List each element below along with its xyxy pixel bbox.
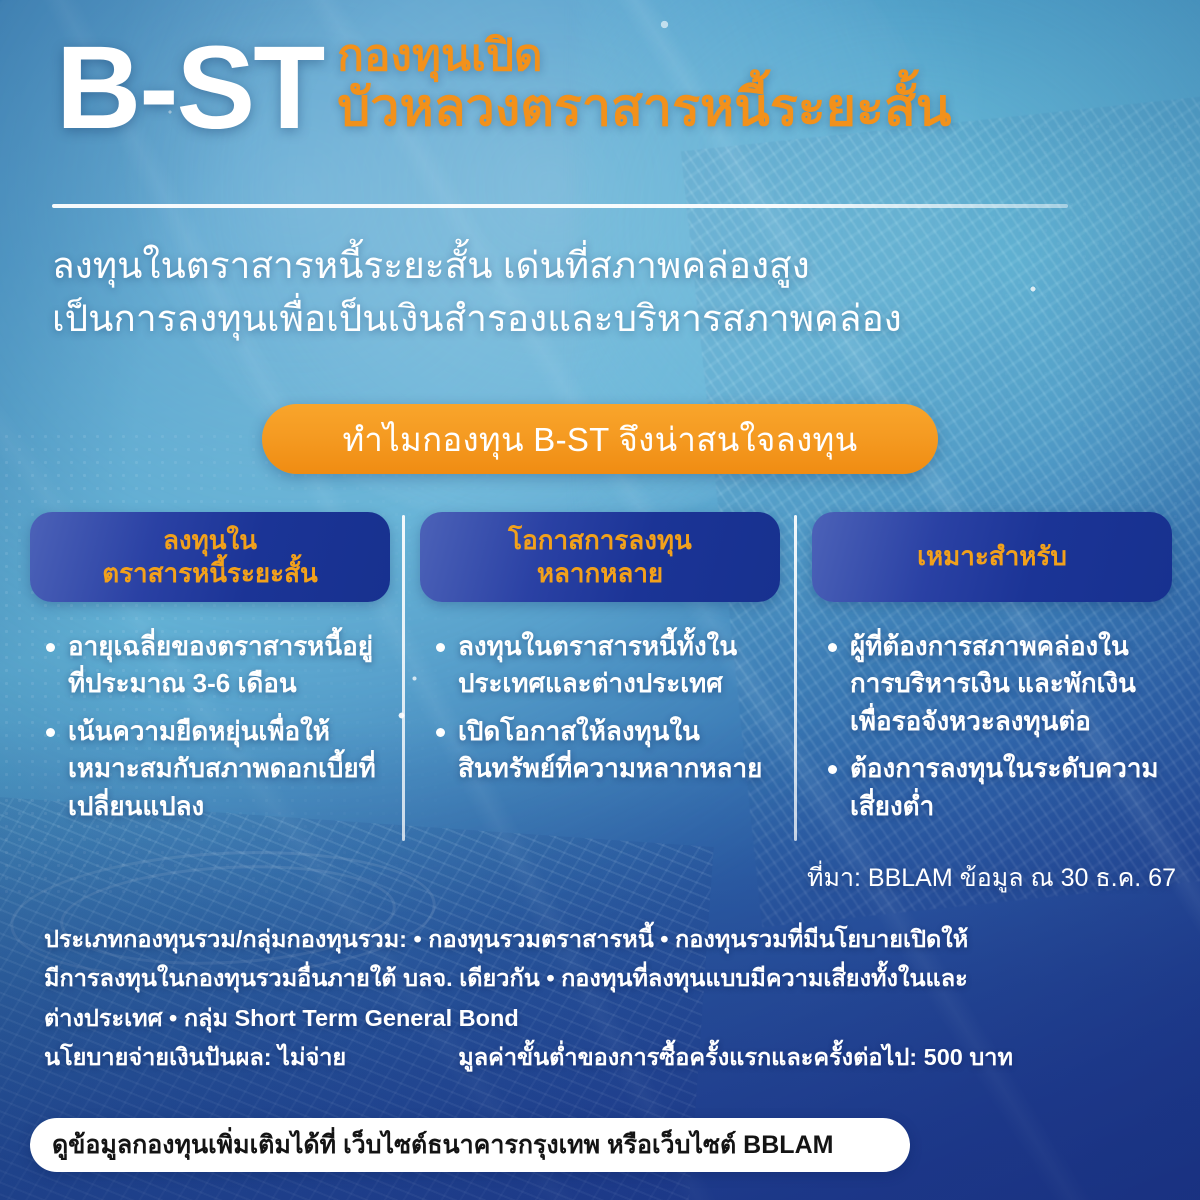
feature-column-2: โอกาสการลงทุนหลากหลาย ลงทุนในตราสารหนี้ท… xyxy=(420,512,780,804)
dividend-policy: นโยบายจ่ายเงินปันผล: ไม่จ่าย xyxy=(44,1038,346,1077)
column-divider-1 xyxy=(402,515,405,841)
fund-name-line1: กองทุนเปิด xyxy=(337,34,951,78)
disclaimer-line3: ต่างประเทศ • กลุ่ม Short Term General Bo… xyxy=(44,999,1174,1038)
title-row: B-ST กองทุนเปิด บัวหลวงตราสารหนี้ระยะสั้… xyxy=(0,28,1200,143)
feature-column-2-bullets: ลงทุนในตราสารหนี้ทั้งในประเทศและต่างประเ… xyxy=(420,628,780,788)
source-note: ที่มา: BBLAM ข้อมูล ณ 30 ธ.ค. 67 xyxy=(807,858,1176,898)
header: B-ST กองทุนเปิด บัวหลวงตราสารหนี้ระยะสั้… xyxy=(0,28,1200,143)
bullet-item: ต้องการลงทุนในระดับความเสี่ยงต่ำ xyxy=(824,750,1166,825)
bullet-item: เน้นความยืดหยุ่นเพื่อให้เหมาะสมกับสภาพดอ… xyxy=(42,713,384,825)
feature-column-3-bullets: ผู้ที่ต้องการสภาพคล่องในการบริหารเงิน แล… xyxy=(812,628,1172,825)
disclaimer-terms-row: นโยบายจ่ายเงินปันผล: ไม่จ่าย มูลค่าขั้นต… xyxy=(44,1038,1174,1077)
fund-name: กองทุนเปิด บัวหลวงตราสารหนี้ระยะสั้น xyxy=(337,34,951,134)
feature-column-3: เหมาะสำหรับ ผู้ที่ต้องการสภาพคล่องในการบ… xyxy=(812,512,1172,841)
content-layer: B-ST กองทุนเปิด บัวหลวงตราสารหนี้ระยะสั้… xyxy=(0,0,1200,1200)
column-divider-2 xyxy=(794,515,797,841)
subtitle-line2: เป็นการลงทุนเพื่อเป็นเงินสำรองและบริหารส… xyxy=(52,293,1142,346)
feature-column-3-title: เหมาะสำหรับ xyxy=(812,512,1172,602)
feature-column-1: ลงทุนในตราสารหนี้ระยะสั้น อายุเฉลี่ยของต… xyxy=(30,512,390,841)
fund-ticker: B-ST xyxy=(56,34,323,143)
cta-pill-button[interactable]: ทำไมกองทุน B-ST จึงน่าสนใจลงทุน xyxy=(262,404,938,474)
bullet-item: ผู้ที่ต้องการสภาพคล่องในการบริหารเงิน แล… xyxy=(824,628,1166,740)
subtitle-line1: ลงทุนในตราสารหนี้ระยะสั้น เด่นที่สภาพคล่… xyxy=(52,240,1142,293)
disclaimer: ประเภทกองทุนรวม/กลุ่มกองทุนรวม: • กองทุน… xyxy=(44,920,1174,1078)
minimum-purchase: มูลค่าขั้นต่ำของการซื้อครั้งแรกและครั้งต… xyxy=(458,1038,1013,1077)
feature-column-1-title: ลงทุนในตราสารหนี้ระยะสั้น xyxy=(30,512,390,602)
bullet-item: ลงทุนในตราสารหนี้ทั้งในประเทศและต่างประเ… xyxy=(432,628,774,703)
bullet-item: เปิดโอกาสให้ลงทุนในสินทรัพย์ที่ความหลากห… xyxy=(432,713,774,788)
header-divider-rule xyxy=(52,204,1068,208)
feature-column-2-title: โอกาสการลงทุนหลากหลาย xyxy=(420,512,780,602)
disclaimer-line1: ประเภทกองทุนรวม/กลุ่มกองทุนรวม: • กองทุน… xyxy=(44,920,1174,959)
disclaimer-line2: มีการลงทุนในกองทุนรวมอื่นภายใต้ บลจ. เดี… xyxy=(44,959,1174,998)
subtitle: ลงทุนในตราสารหนี้ระยะสั้น เด่นที่สภาพคล่… xyxy=(52,240,1142,345)
poster: B-ST กองทุนเปิด บัวหลวงตราสารหนี้ระยะสั้… xyxy=(0,0,1200,1200)
footer-link-bar[interactable]: ดูข้อมูลกองทุนเพิ่มเติมได้ที่ เว็บไซต์ธน… xyxy=(30,1118,910,1172)
feature-column-1-bullets: อายุเฉลี่ยของตราสารหนี้อยู่ที่ประมาณ 3-6… xyxy=(30,628,390,825)
terms-spacer xyxy=(346,1038,458,1077)
fund-name-line2: บัวหลวงตราสารหนี้ระยะสั้น xyxy=(337,82,951,134)
bullet-item: อายุเฉลี่ยของตราสารหนี้อยู่ที่ประมาณ 3-6… xyxy=(42,628,384,703)
